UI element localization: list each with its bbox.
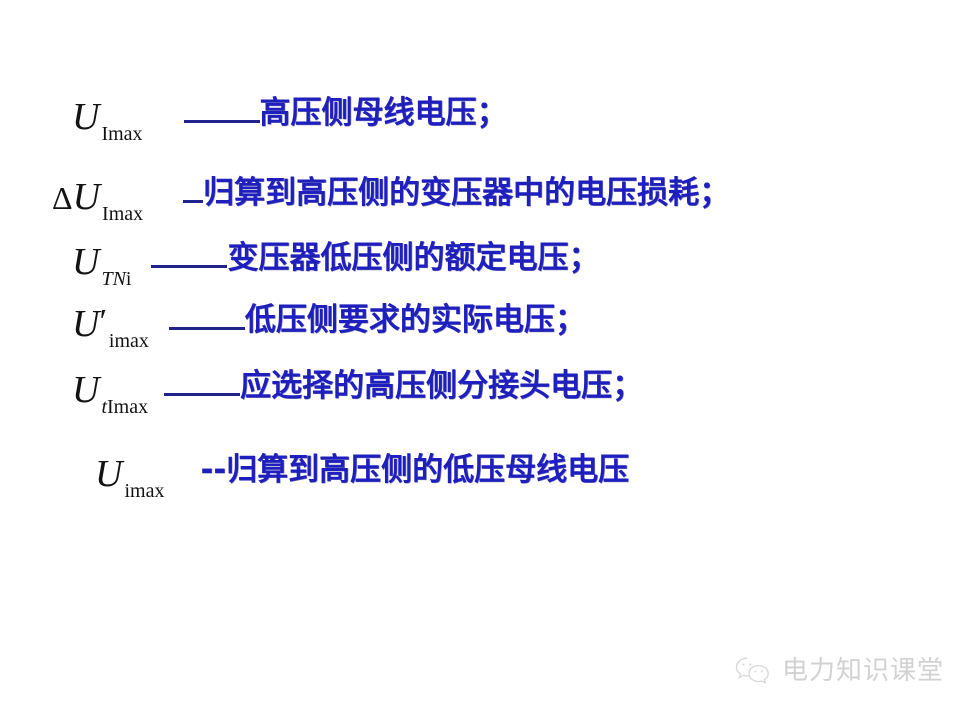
gloss-text: 变压器低压侧的额定电压；	[227, 243, 599, 274]
symbol-subscript: Imax	[101, 123, 142, 145]
definition-row-u-t1max: UtImax 应选择的高压侧分接头电压；	[72, 371, 643, 409]
separator-rule	[169, 327, 245, 330]
watermark: 电力知识课堂	[733, 655, 944, 687]
gloss-text: 应选择的高压侧分接头电压；	[240, 371, 643, 402]
gloss-text: 归算到高压侧的低压母线电压	[226, 455, 629, 486]
separator-rule	[151, 265, 227, 268]
symbol-subscript: Imax	[102, 203, 143, 225]
symbol-subscript: TNi	[101, 268, 131, 290]
definition-row-u-prime-imax: U′imax 低压侧要求的实际电压；	[72, 305, 586, 343]
wechat-icon	[733, 655, 773, 687]
symbol-u-prime-imax: U′imax	[72, 305, 147, 343]
watermark-label: 电力知识课堂	[782, 658, 944, 684]
subscript-roman-part: imax	[124, 480, 164, 502]
symbol-u-tni: UTNi	[72, 243, 129, 281]
gloss-text: 低压侧要求的实际电压；	[245, 305, 586, 336]
symbol-subscript: imax	[124, 480, 164, 502]
prime-glyph: ′	[97, 303, 104, 340]
slide-canvas: UImax 高压侧母线电压； ΔUImax 归算到高压侧的变压器中的电压损耗； …	[0, 0, 960, 720]
separator-rule	[184, 120, 260, 123]
symbol-base: U	[72, 369, 99, 411]
symbol-base: U	[73, 176, 100, 218]
symbol-base: U	[72, 303, 99, 345]
gloss-text: 高压侧母线电压；	[260, 98, 508, 129]
symbol-u-1max: UImax	[72, 98, 141, 136]
separator-rule	[164, 393, 240, 396]
subscript-roman-part: i	[126, 268, 132, 290]
definition-row-u-1max: UImax 高压侧母线电压；	[72, 98, 508, 136]
gloss-text: 归算到高压侧的变压器中的电压损耗；	[203, 178, 730, 209]
separator-dashes: --	[200, 455, 226, 486]
symbol-delta-u-1max: ΔUImax	[52, 178, 141, 216]
symbol-base: U	[95, 453, 122, 495]
definition-row-delta-u-1max: ΔUImax 归算到高压侧的变压器中的电压损耗；	[52, 178, 730, 216]
symbol-subscript: tImax	[101, 396, 148, 418]
subscript-italic-part: TN	[101, 268, 125, 290]
subscript-roman-part: Imax	[107, 396, 148, 418]
definition-row-u-tni: UTNi 变压器低压侧的额定电压；	[72, 243, 599, 281]
subscript-roman-part: Imax	[101, 123, 142, 145]
delta-glyph: Δ	[52, 180, 73, 216]
definition-row-u-imax: Uimax -- 归算到高压侧的低压母线电压	[95, 455, 629, 493]
symbol-u-imax: Uimax	[95, 455, 162, 493]
separator-rule	[183, 200, 203, 203]
subscript-roman-part: Imax	[102, 203, 143, 225]
symbol-u-t1max: UtImax	[72, 371, 146, 409]
symbol-base: U	[72, 96, 99, 138]
subscript-roman-part: imax	[109, 330, 149, 352]
symbol-base: U	[72, 241, 99, 283]
symbol-subscript: imax	[109, 330, 149, 352]
